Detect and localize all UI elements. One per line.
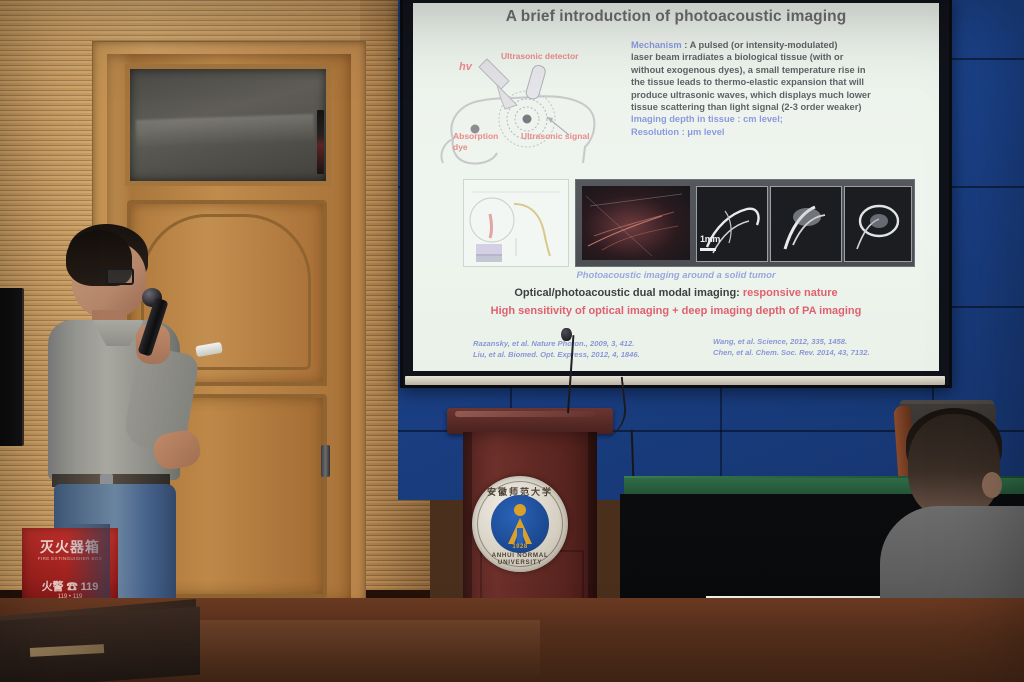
figure-panel-row: 1mm bbox=[463, 179, 913, 265]
conclusion-line-2: High sensitivity of optical imaging + de… bbox=[413, 305, 939, 317]
reference-left-2: Liu, et al. Biomed. Opt. Express, 2012, … bbox=[473, 350, 640, 361]
resolution-line: Resolution : μm level bbox=[631, 126, 919, 138]
absorption-label: Absorption bbox=[453, 131, 498, 141]
hv-label: hv bbox=[459, 61, 472, 73]
vessel-image-1 bbox=[582, 186, 690, 260]
mechanism-line-3: without exogenous dyes), a small tempera… bbox=[631, 64, 919, 76]
podium-highlight bbox=[455, 411, 595, 417]
emblem-figure-icon bbox=[502, 516, 538, 546]
emblem-sun-icon bbox=[514, 504, 526, 516]
mechanism-line-1: A pulsed (or intensity-modulated) bbox=[690, 40, 838, 50]
mechanism-line-6: tissue scattering than light signal (2-3… bbox=[631, 101, 919, 113]
projected-slide: A brief introduction of photoacoustic im… bbox=[413, 3, 939, 371]
emblem-year: 1928 bbox=[472, 544, 568, 550]
dye-label: dye bbox=[453, 142, 468, 152]
podium-microphone-head bbox=[561, 328, 572, 341]
photoacoustic-schematic: hv Ultrasonic detector Absorption dye Ul… bbox=[435, 43, 635, 173]
mechanism-line-5: produce ultrasonic waves, which displays… bbox=[631, 89, 919, 101]
mechanism-heading: Mechanism bbox=[631, 40, 682, 50]
mechanism-separator: : bbox=[682, 40, 690, 50]
wall-mounted-dark-panel bbox=[0, 288, 24, 446]
mechanism-line-4: the tissue leads to thermo-elastic expan… bbox=[631, 76, 919, 88]
emblem-english-name: ANHUI NORMAL UNIVERSITY bbox=[472, 552, 568, 566]
ultrasonic-signal-label: Ultrasonic signal bbox=[521, 131, 590, 141]
schematic-inset-figure bbox=[463, 179, 569, 267]
podium-top-surface bbox=[447, 408, 613, 434]
mechanism-line-2: laser beam irradiates a biological tissu… bbox=[631, 51, 919, 63]
university-emblem: 安徽师范大学 1928 ANHUI NORMAL UNIVERSITY bbox=[472, 476, 568, 572]
vessel-image-4 bbox=[844, 186, 912, 262]
scalebar-line bbox=[700, 248, 716, 251]
photoacoustic-image-panels: 1mm bbox=[575, 179, 915, 267]
reference-right-1: Wang, et al. Science, 2012, 335, 1458. bbox=[713, 337, 870, 348]
door-handle[interactable] bbox=[321, 445, 330, 477]
conclusion-1-red: responsive nature bbox=[743, 287, 838, 299]
seated-person-head bbox=[908, 414, 1000, 518]
conclusion-1-black: Optical/photoacoustic dual modal imaging… bbox=[514, 287, 743, 299]
glass-reflection bbox=[136, 114, 315, 146]
ultrasonic-detector-label: Ultrasonic detector bbox=[501, 51, 578, 61]
eyeglasses-lens bbox=[106, 268, 134, 285]
vessel-image-3 bbox=[770, 186, 842, 262]
imaging-depth-line: Imaging depth in tissue : cm level; bbox=[631, 113, 919, 125]
projection-screen: A brief introduction of photoacoustic im… bbox=[400, 0, 952, 388]
scalebar-label: 1mm bbox=[700, 234, 720, 244]
reference-right-2: Chen, et al. Chem. Soc. Rev. 2014, 43, 7… bbox=[713, 348, 870, 359]
screen-weight-bar bbox=[405, 376, 945, 385]
conclusion-line-1: Optical/photoacoustic dual modal imaging… bbox=[413, 287, 939, 299]
mechanism-text-block: Mechanism : A pulsed (or intensity-modul… bbox=[631, 39, 919, 138]
door-hinge-strip bbox=[317, 110, 324, 174]
reference-left-1: Razansky, et al. Nature Photon., 2009, 3… bbox=[473, 339, 640, 350]
figure-caption: Photoacoustic imaging around a solid tum… bbox=[413, 269, 939, 280]
reference-block: Razansky, et al. Nature Photon., 2009, 3… bbox=[413, 339, 939, 371]
slide-title: A brief introduction of photoacoustic im… bbox=[413, 8, 939, 26]
door-glass-transom bbox=[125, 64, 331, 186]
seated-person-ear bbox=[982, 472, 1002, 498]
lecture-hall-photo: A brief introduction of photoacoustic im… bbox=[0, 0, 1024, 682]
